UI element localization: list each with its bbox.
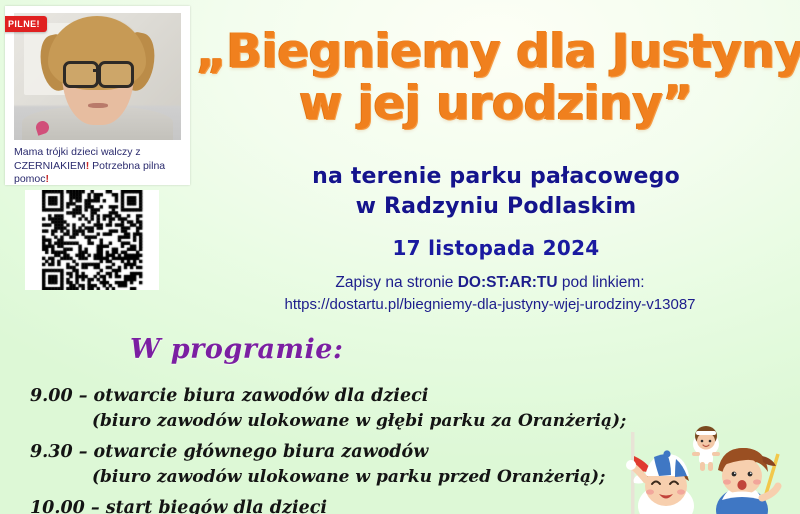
qr-code[interactable] xyxy=(25,190,159,290)
program-item: 9.00 – otwarcie biura zawodów dla dzieci… xyxy=(30,384,690,434)
program-item-note: (biuro zawodów ulokowane w głębi parku z… xyxy=(92,409,690,434)
poster-title: „Biegniemy dla Justyny w jej urodziny” xyxy=(196,26,796,130)
photo-card: PILNE! Mama trójki dzieci walczy z CZERN… xyxy=(5,6,190,185)
poster-canvas: PILNE! Mama trójki dzieci walczy z CZERN… xyxy=(0,0,800,514)
program-list: 9.00 – otwarcie biura zawodów dla dzieci… xyxy=(30,384,690,514)
subtitle-line-2: w Radzyniu Podlaskim xyxy=(196,192,796,222)
signup-platform: DO:ST:AR:TU xyxy=(458,274,558,291)
event-date: 17 listopada 2024 xyxy=(196,236,796,260)
photo-glasses-left xyxy=(63,61,99,88)
urgent-badge: PILNE! xyxy=(5,16,47,32)
program-item-main: 9.00 – otwarcie biura zawodów dla dzieci xyxy=(30,384,690,409)
title-line-1: „Biegniemy dla Justyny xyxy=(196,26,796,78)
subtitle-line-1: na terenie parku pałacowego xyxy=(196,162,796,192)
program-item: 9.30 – otwarcie głównego biura zawodów (… xyxy=(30,440,690,490)
photo-caption-excl-2: ! xyxy=(46,173,50,185)
program-heading: W programie: xyxy=(130,334,343,365)
photo-glasses-bridge xyxy=(93,69,100,72)
program-item-main: 10.00 – start biegów dla dzieci xyxy=(30,496,690,514)
photo-caption: Mama trójki dzieci walczy z CZERNIAKIEM!… xyxy=(14,146,184,185)
photo-glasses-right xyxy=(98,61,134,88)
program-item: 10.00 – start biegów dla dzieci xyxy=(30,496,690,514)
poster-subtitle: na terenie parku pałacowego w Radzyniu P… xyxy=(196,162,796,222)
signup-info: Zapisy na stronie DO:ST:AR:TU pod linkie… xyxy=(180,272,800,316)
photo-mouth xyxy=(88,103,108,108)
qr-code-canvas[interactable] xyxy=(25,190,159,290)
woman-portrait-photo xyxy=(14,13,181,140)
signup-url[interactable]: https://dostartu.pl/biegniemy-dla-justyn… xyxy=(180,294,800,316)
signup-prefix: Zapisy na stronie xyxy=(335,274,457,291)
title-line-2: w jej urodziny” xyxy=(196,78,796,130)
signup-suffix: pod linkiem: xyxy=(558,274,645,291)
program-item-main: 9.30 – otwarcie głównego biura zawodów xyxy=(30,440,690,465)
program-item-note: (biuro zawodów ulokowane w parku przed O… xyxy=(92,465,690,490)
